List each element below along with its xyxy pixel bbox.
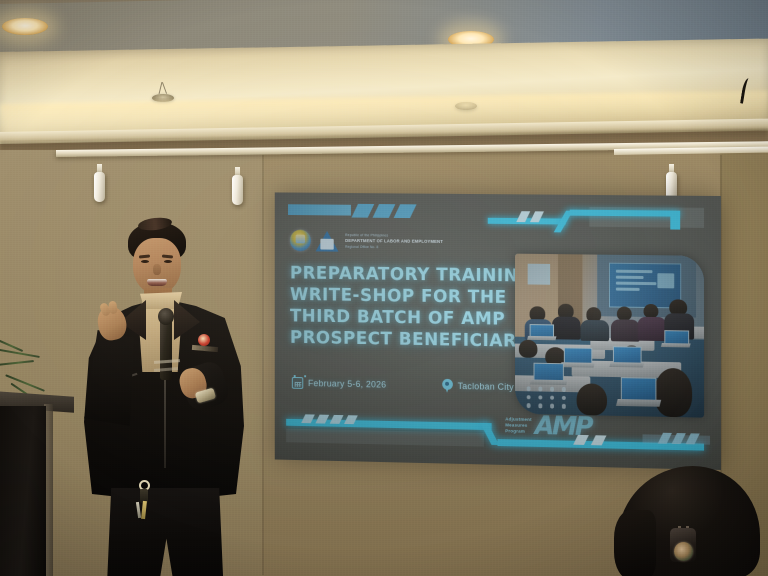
recessed-downlight-icon	[2, 18, 48, 35]
lectern-body	[0, 406, 46, 576]
jacket-emblem-icon	[198, 334, 210, 346]
slide-location: Tacloban City	[442, 379, 514, 394]
slide-date-text: February 5-6, 2026	[308, 378, 386, 389]
presenter-mouth	[147, 279, 167, 286]
calendar-icon	[292, 377, 303, 389]
microphone-head	[158, 308, 174, 325]
slide-header: Republic of the Philippines DEPARTMENT O…	[290, 230, 443, 253]
slide-meta-row: February 5-6, 2026 Tacloban City	[292, 376, 514, 394]
presenter-trousers	[104, 488, 224, 576]
slide-decor-stepped-line-icon	[286, 413, 704, 452]
slide-title-line-4: PROSPECT BENEFICIARIES	[290, 327, 531, 353]
slide-location-text: Tacloban City	[458, 381, 514, 392]
hair-clip-ornament-icon	[674, 542, 693, 561]
slide-title: PREPARATORY TRAINING WRITE-SHOP FOR THE …	[290, 263, 531, 353]
slide-decor-chevron-icon	[394, 204, 417, 218]
map-pin-icon	[442, 379, 453, 393]
agency-line-3: Regional Office No. 8	[345, 245, 443, 250]
presentation-slide: Republic of the Philippines DEPARTMENT O…	[275, 192, 721, 470]
philippine-seal-icon	[290, 230, 311, 252]
agency-line-2: DEPARTMENT OF LABOR AND EMPLOYMENT	[345, 238, 443, 244]
slide-inset-photo	[515, 254, 704, 418]
wall-seam	[262, 155, 264, 575]
agency-text-block: Republic of the Philippines DEPARTMENT O…	[345, 233, 443, 249]
presenter	[76, 222, 252, 576]
foreground-attendee	[618, 466, 768, 576]
slide-date: February 5-6, 2026	[292, 377, 386, 391]
dole-triangle-logo-icon	[316, 230, 339, 251]
track-spotlight-icon	[232, 175, 243, 205]
track-spotlight-icon	[94, 172, 105, 202]
belt-keys-icon	[136, 480, 152, 524]
presenter-eye	[164, 260, 172, 263]
slide-decor-chevron-icon	[351, 204, 374, 218]
slide-decor-chevron-icon	[373, 204, 396, 218]
slide-decor-bar-icon	[288, 204, 351, 215]
projection-screen: Republic of the Philippines DEPARTMENT O…	[275, 192, 721, 470]
presenter-eye	[141, 260, 149, 263]
photo-scene: Republic of the Philippines DEPARTMENT O…	[0, 0, 768, 576]
